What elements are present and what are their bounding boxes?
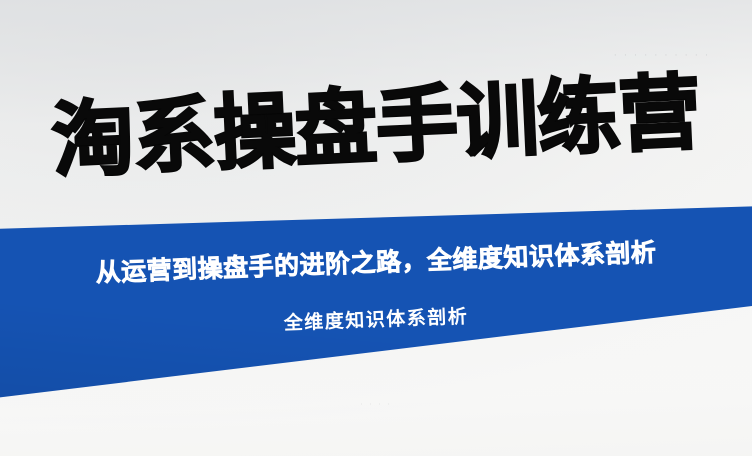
course-poster: 淘系操盘手训练营 从运营到操盘手的进阶之路，全维度知识体系剖析 全维度知识体系剖… bbox=[0, 0, 752, 456]
poster-title-text: 淘系操盘手训练营 bbox=[50, 71, 701, 184]
poster-title: 淘系操盘手训练营 bbox=[0, 69, 752, 187]
watermark-bottom-center: · · · · bbox=[0, 400, 752, 409]
watermark-top-right: · · · · · · · · · · bbox=[614, 51, 710, 61]
